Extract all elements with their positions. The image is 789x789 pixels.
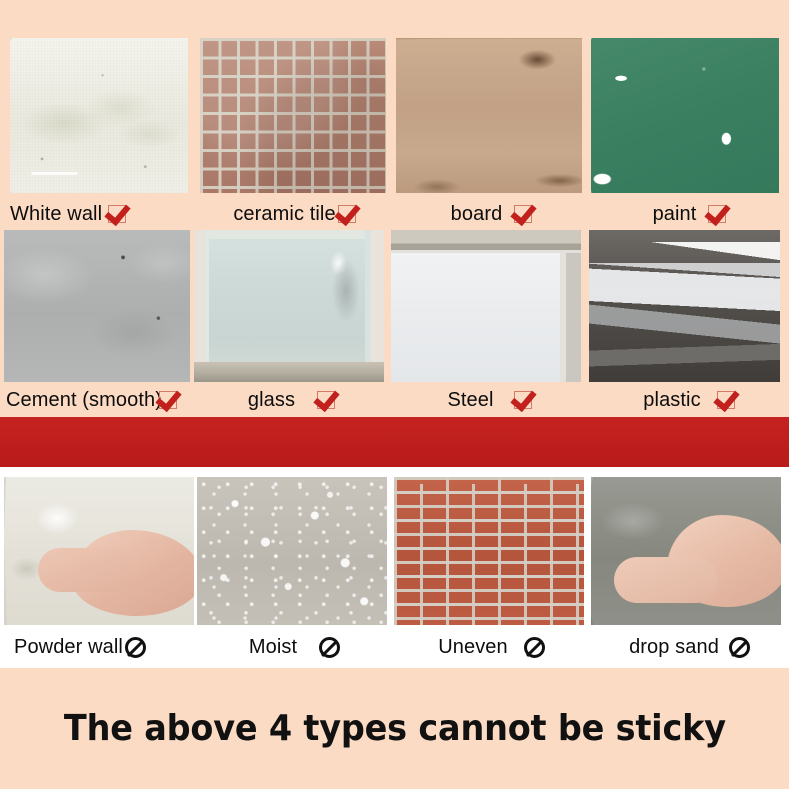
label-strip-steel: Steel — [390, 382, 589, 418]
prohibition-icon — [524, 637, 545, 658]
label-strip-white-wall: White wall — [0, 193, 196, 235]
material-label: Cement (smooth) — [6, 389, 162, 412]
material-card-drop-sand[interactable]: drop sand — [590, 477, 789, 669]
material-label: ceramic tile — [233, 203, 335, 226]
red-divider-band — [0, 417, 789, 467]
material-label: glass — [248, 389, 295, 412]
label-strip-glass: glass — [193, 382, 390, 418]
material-label: paint — [653, 203, 697, 226]
prohibition-icon — [319, 637, 340, 658]
incompatible-row: Powder wall Moist Uneven — [0, 477, 789, 669]
thumbnail-drop-sand — [591, 477, 781, 625]
label-strip-paint: paint — [590, 193, 789, 235]
material-card-moist[interactable]: Moist — [196, 477, 393, 669]
thumbnail-uneven-brick — [394, 477, 584, 625]
material-label: drop sand — [629, 636, 719, 659]
check-mark-icon — [514, 391, 532, 409]
label-strip-drop-sand: drop sand — [590, 625, 789, 669]
material-card-glass[interactable]: glass — [193, 230, 390, 418]
hand-fingers — [614, 557, 718, 603]
check-mark-icon — [708, 205, 726, 223]
thumbnail-ceramic-tile — [200, 38, 386, 193]
check-mark-icon — [159, 391, 177, 409]
thumbnail-board — [396, 38, 582, 193]
thumbnail-moist — [197, 477, 387, 625]
label-strip-plastic: plastic — [589, 382, 789, 418]
compatible-row-2: Cement (smooth) glass Steel — [0, 230, 789, 418]
material-label: Uneven — [438, 636, 508, 659]
texture-noise — [10, 38, 188, 193]
compatible-surfaces-section: White wall ceramic tile board — [0, 0, 789, 417]
label-strip-moist: Moist — [196, 625, 393, 669]
material-card-board[interactable]: board — [393, 38, 590, 235]
check-mark-icon — [514, 205, 532, 223]
material-label: plastic — [643, 389, 700, 412]
label-strip-powder-wall: Powder wall — [0, 625, 196, 669]
label-strip-cement: Cement (smooth) — [0, 382, 193, 418]
thumbnail-cement — [4, 230, 190, 382]
check-mark-icon — [717, 391, 735, 409]
material-card-powder-wall[interactable]: Powder wall — [0, 477, 196, 669]
material-label: Moist — [249, 636, 297, 659]
material-card-paint[interactable]: paint — [590, 38, 789, 235]
prohibition-icon — [729, 637, 750, 658]
material-label: Steel — [447, 389, 493, 412]
thumbnail-powder-wall — [4, 477, 194, 625]
material-card-cement[interactable]: Cement (smooth) — [0, 230, 193, 418]
compatible-row-1: White wall ceramic tile board — [0, 38, 789, 235]
material-card-uneven[interactable]: Uneven — [393, 477, 590, 669]
check-mark-icon — [317, 391, 335, 409]
label-strip-uneven: Uneven — [393, 625, 590, 669]
material-card-ceramic-tile[interactable]: ceramic tile — [196, 38, 393, 235]
summary-caption: The above 4 types cannot be sticky — [64, 708, 726, 749]
thumbnail-paint — [591, 38, 779, 193]
material-label: White wall — [10, 203, 102, 226]
material-card-white-wall[interactable]: White wall — [0, 38, 196, 235]
check-mark-icon — [338, 205, 356, 223]
hand-fingers — [38, 548, 134, 592]
material-card-plastic[interactable]: plastic — [589, 230, 789, 418]
label-strip-ceramic-tile: ceramic tile — [196, 193, 393, 235]
check-mark-icon — [108, 205, 126, 223]
thumbnail-glass — [194, 230, 384, 382]
material-label: board — [451, 203, 503, 226]
infographic-root: White wall ceramic tile board — [0, 0, 789, 789]
section-gap — [0, 467, 789, 477]
material-card-steel[interactable]: Steel — [390, 230, 589, 418]
thumbnail-steel — [391, 230, 581, 382]
prohibition-icon — [125, 637, 146, 658]
material-label: Powder wall — [14, 636, 123, 659]
thumbnail-plastic — [589, 230, 780, 382]
label-strip-board: board — [393, 193, 590, 235]
thumbnail-white-wall — [10, 38, 188, 193]
caption-bar: The above 4 types cannot be sticky — [0, 668, 789, 789]
